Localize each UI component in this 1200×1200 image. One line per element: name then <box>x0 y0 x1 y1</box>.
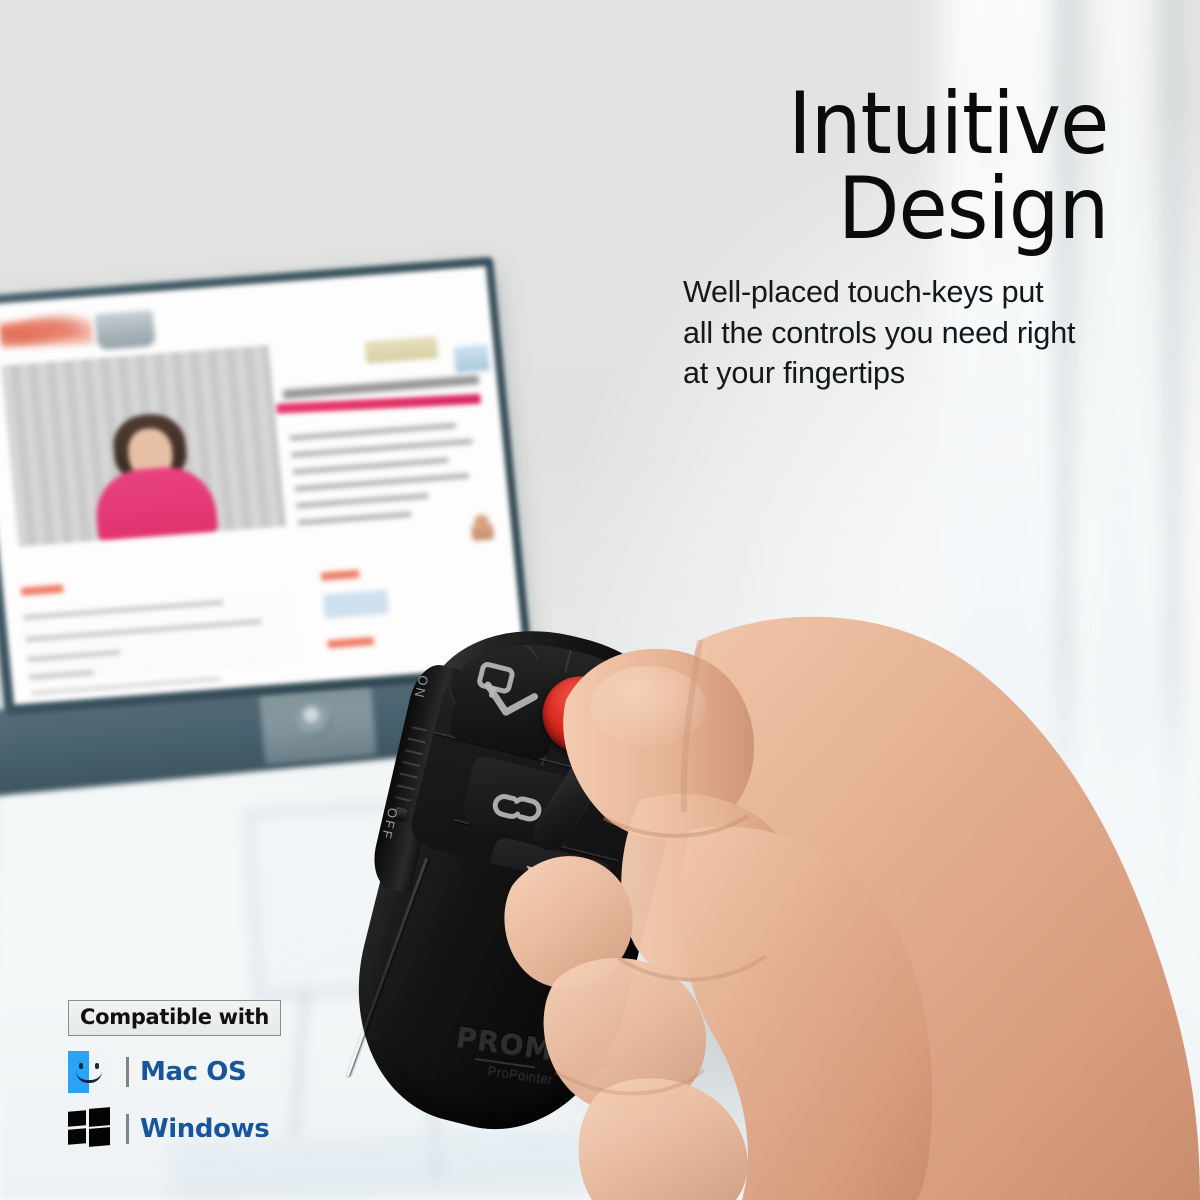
hand-holding-device <box>0 0 1200 1200</box>
product-marketing-image: Intuitive Design Well-placed touch-keys … <box>0 0 1200 1200</box>
product-photo: ON OFF <box>0 0 1200 1200</box>
pinky-finger <box>579 1078 748 1200</box>
